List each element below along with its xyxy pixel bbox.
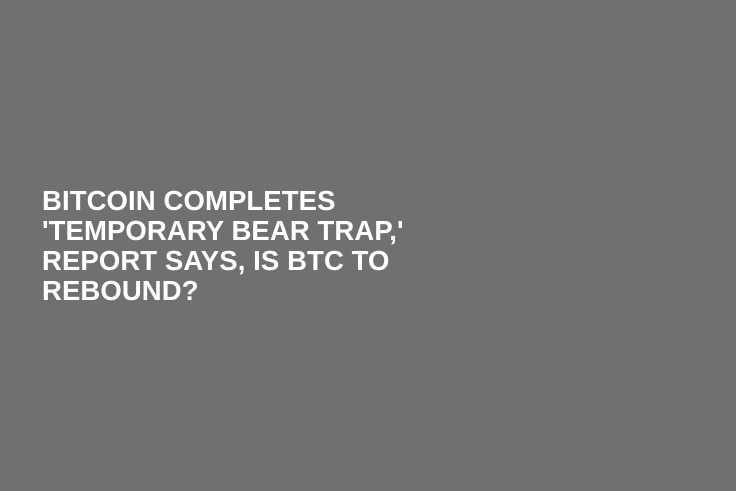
headline-line-3: REPORT SAYS, IS BTC TO xyxy=(42,246,642,276)
headline-line-2: 'TEMPORARY BEAR TRAP,' xyxy=(42,216,642,246)
headline-line-1: BITCOIN COMPLETES xyxy=(42,186,642,216)
headline-line-4: REBOUND? xyxy=(42,276,642,306)
hero-card: BITCOIN COMPLETES 'TEMPORARY BEAR TRAP,'… xyxy=(0,0,736,491)
headline: BITCOIN COMPLETES 'TEMPORARY BEAR TRAP,'… xyxy=(42,186,642,306)
